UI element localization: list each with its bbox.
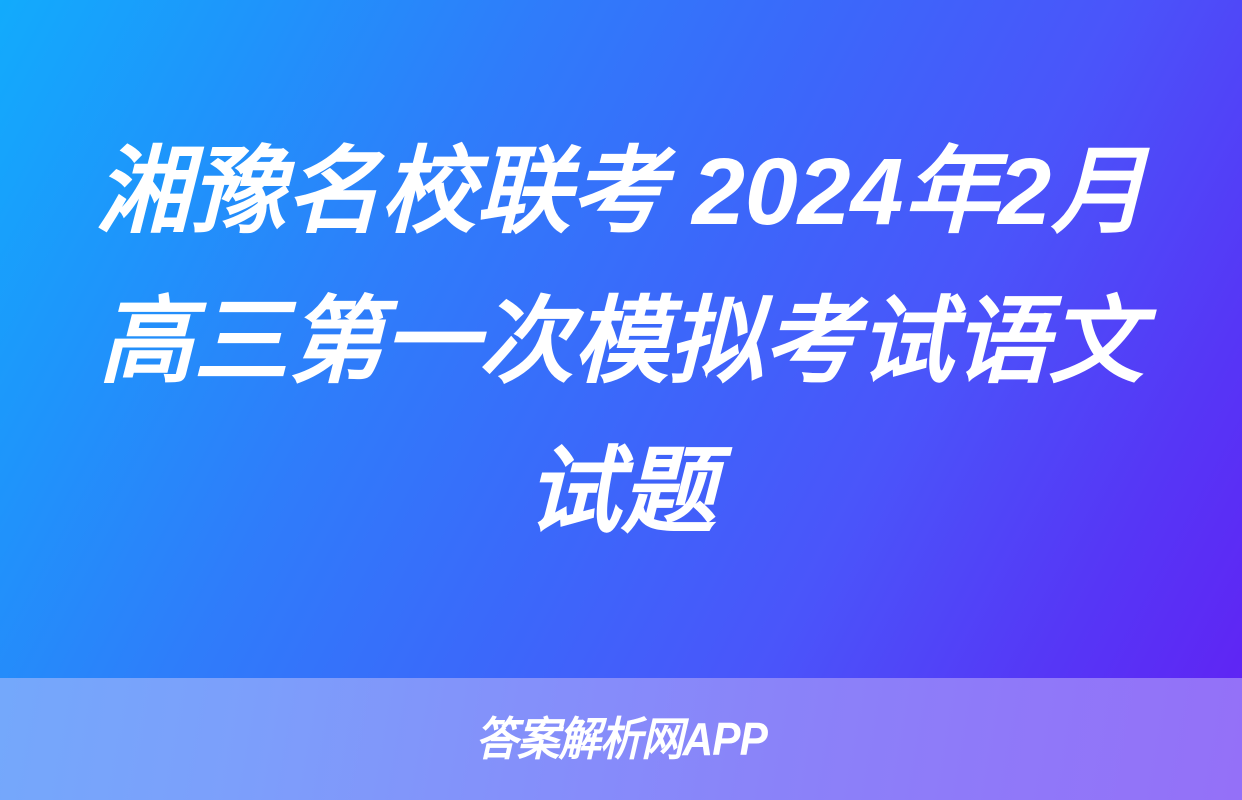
page-title: 湘豫名校联考 2024年2月高三第一次模拟考试语文试题 [87, 111, 1155, 567]
hero-gradient-banner: 湘豫名校联考 2024年2月高三第一次模拟考试语文试题 [0, 0, 1242, 678]
exam-poster-card: 湘豫名校联考 2024年2月高三第一次模拟考试语文试题 答案解析网APP [0, 0, 1242, 800]
footer-watermark-band: 答案解析网APP [0, 678, 1242, 800]
app-watermark-label: 答案解析网APP [475, 713, 766, 765]
